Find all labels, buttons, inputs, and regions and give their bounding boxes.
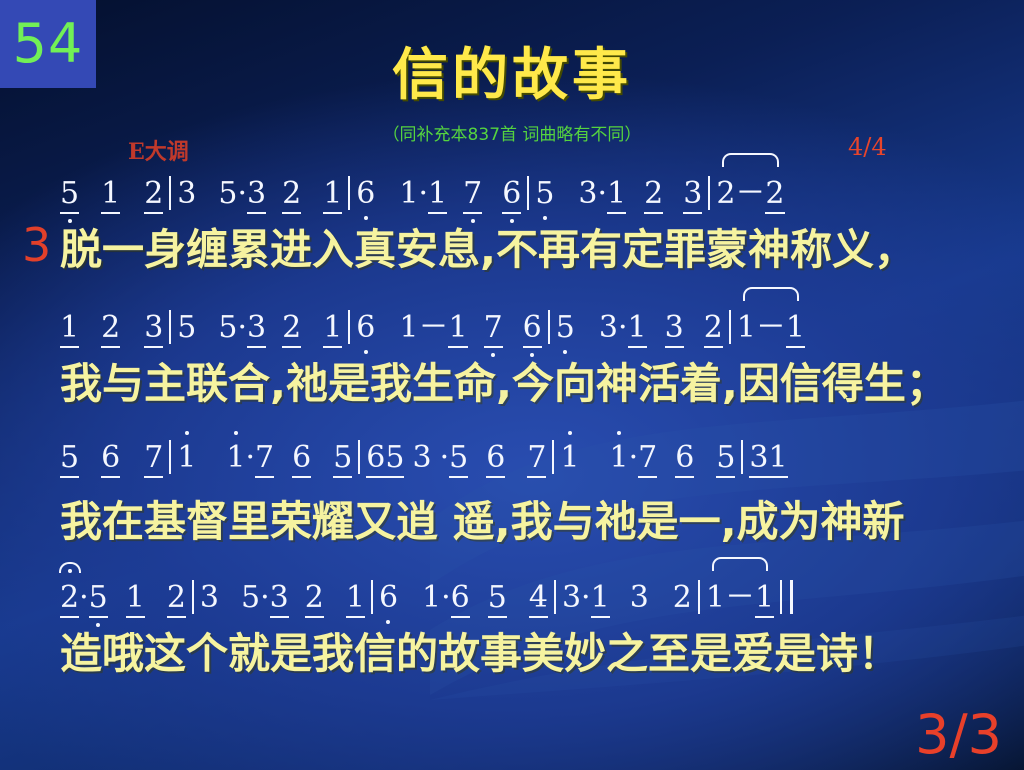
lyrics-row-2: 我与主联合,祂是我生命,今向神活着,因信得生； bbox=[60, 350, 990, 411]
note: 3 bbox=[630, 580, 649, 615]
augmentation-dot: · bbox=[581, 580, 591, 615]
note: 1 bbox=[399, 310, 418, 345]
score-system-3: 5 6 71 1·7 6 565 3 ·5 6 71 1·7 6 531 我在基… bbox=[60, 440, 990, 549]
augmentation-dot: · bbox=[441, 580, 451, 615]
note: 5 bbox=[218, 310, 237, 345]
note: 6 bbox=[356, 310, 375, 345]
barline bbox=[729, 310, 731, 344]
note: 1 bbox=[177, 440, 196, 475]
note: 1 bbox=[607, 176, 626, 214]
tie-mark: 1－1 bbox=[706, 572, 774, 618]
barline bbox=[548, 310, 550, 344]
augmentation-dot: · bbox=[237, 176, 247, 211]
augmentation-dot: · bbox=[618, 310, 628, 345]
note: 3 bbox=[665, 310, 684, 348]
note: 1 bbox=[737, 310, 756, 345]
final-barline bbox=[780, 580, 793, 614]
note: 3 bbox=[144, 310, 163, 348]
barline bbox=[527, 176, 529, 210]
note: 5 bbox=[60, 176, 79, 214]
dash-extender: － bbox=[756, 302, 786, 346]
note: 1 bbox=[399, 176, 418, 211]
note: 2 bbox=[167, 580, 186, 618]
note: 1 bbox=[346, 580, 365, 618]
dash-extender: － bbox=[735, 168, 765, 212]
key-signature-label: E大调 bbox=[128, 134, 189, 166]
barline bbox=[741, 440, 743, 474]
score-system-1: 5 1 23 5·3 2 16 1·1 7 65 3·1 2 32－2 脱一身缠… bbox=[60, 168, 990, 277]
note: 1 bbox=[448, 310, 467, 348]
slide-canvas: 54 信的故事 （同补充本837首 词曲略有不同） E大调 4/4 3 3/3 … bbox=[0, 0, 1024, 770]
note: 1 bbox=[706, 580, 725, 615]
note: 7 bbox=[144, 440, 163, 478]
note: 6 bbox=[101, 440, 120, 478]
note: 1 bbox=[323, 176, 342, 214]
score-system-2: 1 2 35 5·3 2 16 1－1 7 65 3·1 3 21－1 我与主联… bbox=[60, 302, 990, 411]
note: 2 bbox=[716, 176, 735, 211]
note: 1 bbox=[560, 440, 579, 475]
note: 3 bbox=[247, 310, 266, 348]
note: 1 bbox=[422, 580, 441, 615]
note: 5 bbox=[449, 440, 468, 478]
note: 5 bbox=[333, 440, 352, 478]
note: 2 bbox=[673, 580, 692, 615]
barline bbox=[371, 580, 373, 614]
note: 2 bbox=[101, 310, 120, 348]
note: 1 bbox=[126, 580, 145, 618]
note: 3 bbox=[412, 440, 431, 475]
note: 6 bbox=[451, 580, 470, 618]
note: 1 bbox=[60, 310, 79, 348]
note: 6 bbox=[356, 176, 375, 211]
augmentation-dot: · bbox=[598, 176, 608, 211]
note: 4 bbox=[529, 580, 548, 618]
note: 1 bbox=[628, 310, 647, 348]
note: 1 bbox=[226, 440, 245, 475]
note: 1 bbox=[323, 310, 342, 348]
barline bbox=[348, 310, 350, 344]
score-system-4: 2·5 1 23 5·3 2 16 1·6 5 43·1 3 21－1 造哦这个… bbox=[60, 572, 990, 681]
note: 31 bbox=[749, 440, 787, 478]
barline bbox=[708, 176, 710, 210]
note: 3 bbox=[562, 580, 581, 615]
note: 5 bbox=[60, 440, 79, 478]
note: 1 bbox=[786, 310, 805, 348]
note: 1 bbox=[591, 580, 610, 618]
barline bbox=[698, 580, 700, 614]
lyrics-row-3: 我在基督里荣耀又逍 遥,我与祂是一,成为神新 bbox=[60, 488, 990, 549]
barline bbox=[554, 580, 556, 614]
note: 1 bbox=[755, 580, 774, 618]
augmentation-dot: · bbox=[440, 440, 450, 475]
barline bbox=[358, 440, 360, 474]
note: 2 bbox=[765, 176, 784, 214]
note: 2 bbox=[704, 310, 723, 348]
barline bbox=[169, 176, 171, 210]
note: 1 bbox=[101, 176, 120, 214]
note: 7 bbox=[638, 440, 657, 478]
barline bbox=[169, 440, 171, 474]
note: 6 bbox=[675, 440, 694, 478]
note: 5 bbox=[89, 580, 108, 618]
barline bbox=[348, 176, 350, 210]
barline bbox=[552, 440, 554, 474]
tie-mark: 1－1 bbox=[737, 302, 805, 348]
note-with-fermata: 2 bbox=[60, 580, 79, 618]
verse-number-label: 3 bbox=[22, 222, 51, 268]
note: 5 bbox=[218, 176, 237, 211]
time-signature-label: 4/4 bbox=[848, 133, 887, 161]
dash-extender: － bbox=[725, 572, 755, 616]
note: 5 bbox=[488, 580, 507, 618]
notation-row-3: 5 6 71 1·7 6 565 3 ·5 6 71 1·7 6 531 bbox=[60, 440, 990, 492]
lyrics-row-1: 脱一身缠累进入真安息,不再有定罪蒙神称义， bbox=[60, 216, 990, 277]
note: 5 bbox=[716, 440, 735, 478]
augmentation-dot: · bbox=[418, 176, 428, 211]
note: 3 bbox=[270, 580, 289, 618]
notation-row-4: 2·5 1 23 5·3 2 16 1·6 5 43·1 3 21－1 bbox=[60, 572, 990, 624]
note: 7 bbox=[484, 310, 503, 348]
page-indicator-label: 3/3 bbox=[915, 708, 1002, 762]
augmentation-dot: · bbox=[245, 440, 255, 475]
notation-row-2: 1 2 35 5·3 2 16 1－1 7 65 3·1 3 21－1 bbox=[60, 302, 990, 354]
note: 2 bbox=[144, 176, 163, 214]
note: 2 bbox=[644, 176, 663, 214]
note: 6 bbox=[502, 176, 521, 214]
note: 2 bbox=[282, 310, 301, 348]
note: 5 bbox=[177, 310, 196, 345]
note: 65 bbox=[366, 440, 404, 478]
note: 3 bbox=[247, 176, 266, 214]
notation-row-1: 5 1 23 5·3 2 16 1·1 7 65 3·1 2 32－2 bbox=[60, 168, 990, 220]
note: 6 bbox=[523, 310, 542, 348]
note: 5 bbox=[556, 310, 575, 345]
augmentation-dot: · bbox=[237, 310, 247, 345]
note: 7 bbox=[527, 440, 546, 478]
page-title: 信的故事 bbox=[0, 48, 1024, 104]
augmentation-dot: · bbox=[629, 440, 639, 475]
lyrics-row-4: 造哦这个就是我信的故事美妙之至是爱是诗！ bbox=[60, 620, 990, 681]
note: 3 bbox=[200, 580, 219, 615]
augmentation-dot: · bbox=[260, 580, 270, 615]
note: 3 bbox=[683, 176, 702, 214]
note: 2 bbox=[282, 176, 301, 214]
note: 1 bbox=[428, 176, 447, 214]
note: 6 bbox=[486, 440, 505, 478]
note: 6 bbox=[292, 440, 311, 478]
augmentation-dot: · bbox=[79, 580, 89, 615]
note: 5 bbox=[241, 580, 260, 615]
note: 2 bbox=[305, 580, 324, 618]
note: 3 bbox=[599, 310, 618, 345]
tie-mark: 2－2 bbox=[716, 168, 784, 214]
dash-extender: － bbox=[418, 302, 448, 346]
note: 3 bbox=[177, 176, 196, 211]
barline bbox=[192, 580, 194, 614]
note: 7 bbox=[255, 440, 274, 478]
note: 7 bbox=[463, 176, 482, 214]
note: 3 bbox=[578, 176, 597, 211]
note: 1 bbox=[610, 440, 629, 475]
note: 6 bbox=[379, 580, 398, 615]
note: 5 bbox=[535, 176, 554, 211]
barline bbox=[169, 310, 171, 344]
